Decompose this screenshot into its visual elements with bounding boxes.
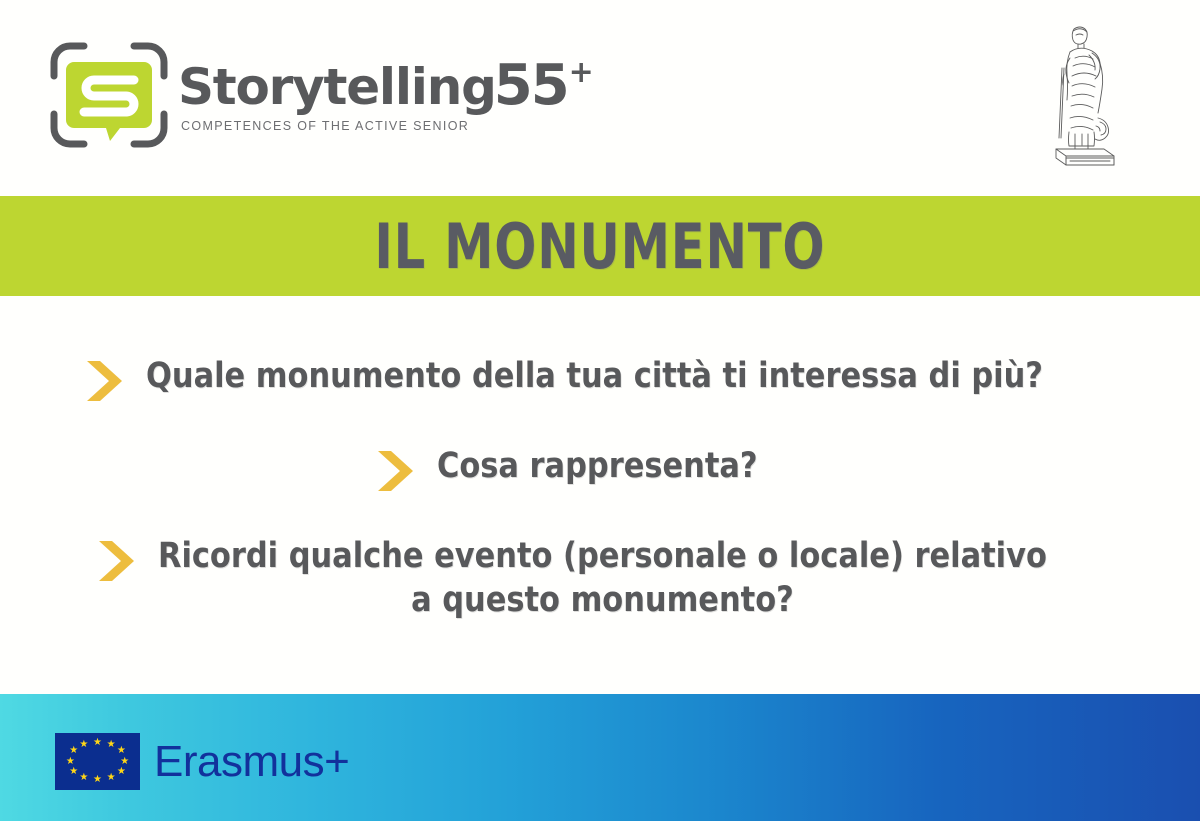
erasmus-plus-logo: ★ ★ ★ ★ ★ ★ ★ ★ ★ ★ ★ ★ Erasmus+ (55, 733, 349, 790)
question-row-2: Cosa rappresenta? (375, 444, 806, 494)
question-text-2: Cosa rappresenta? (437, 444, 758, 488)
chevron-right-icon (84, 358, 130, 404)
slide-root: Storytelling 55 + COMPETENCES OF THE ACT… (0, 0, 1200, 821)
questions-area: Quale monumento della tua città ti inter… (0, 296, 1200, 694)
wordmark-55: 55 (494, 58, 568, 114)
partner-logo-footer: ★ ★ ★ ★ ★ ★ ★ ★ ★ ★ ★ ★ Erasmus+ (0, 694, 1200, 821)
question-text-1: Quale monumento della tua città ti inter… (146, 354, 1043, 398)
storytelling-speech-bubble-icon (48, 40, 170, 150)
question-row-3: Ricordi qualche evento (personale o loca… (96, 534, 1180, 623)
question-row-1: Quale monumento della tua città ti inter… (84, 354, 1177, 404)
chevron-right-icon (96, 538, 142, 584)
erasmus-wordmark: Erasmus+ (154, 740, 349, 784)
title-band: IL MONUMENTO (0, 196, 1200, 296)
storytelling-brand-logo: Storytelling 55 + COMPETENCES OF THE ACT… (48, 40, 594, 150)
storytelling-wordmark: Storytelling 55 + COMPETENCES OF THE ACT… (178, 40, 594, 133)
question-text-3: Ricordi qualche evento (personale o loca… (158, 534, 1047, 623)
slide-header: Storytelling 55 + COMPETENCES OF THE ACT… (0, 0, 1200, 196)
chevron-right-icon (375, 448, 421, 494)
wordmark-storytelling: Storytelling (178, 62, 496, 112)
wordmark-plus: + (569, 58, 594, 88)
brand-tagline: COMPETENCES OF THE ACTIVE SENIOR (181, 119, 594, 133)
eu-flag-icon: ★ ★ ★ ★ ★ ★ ★ ★ ★ ★ ★ ★ (55, 733, 140, 790)
page-title: IL MONUMENTO (374, 210, 825, 283)
statue-icon (1042, 22, 1118, 170)
